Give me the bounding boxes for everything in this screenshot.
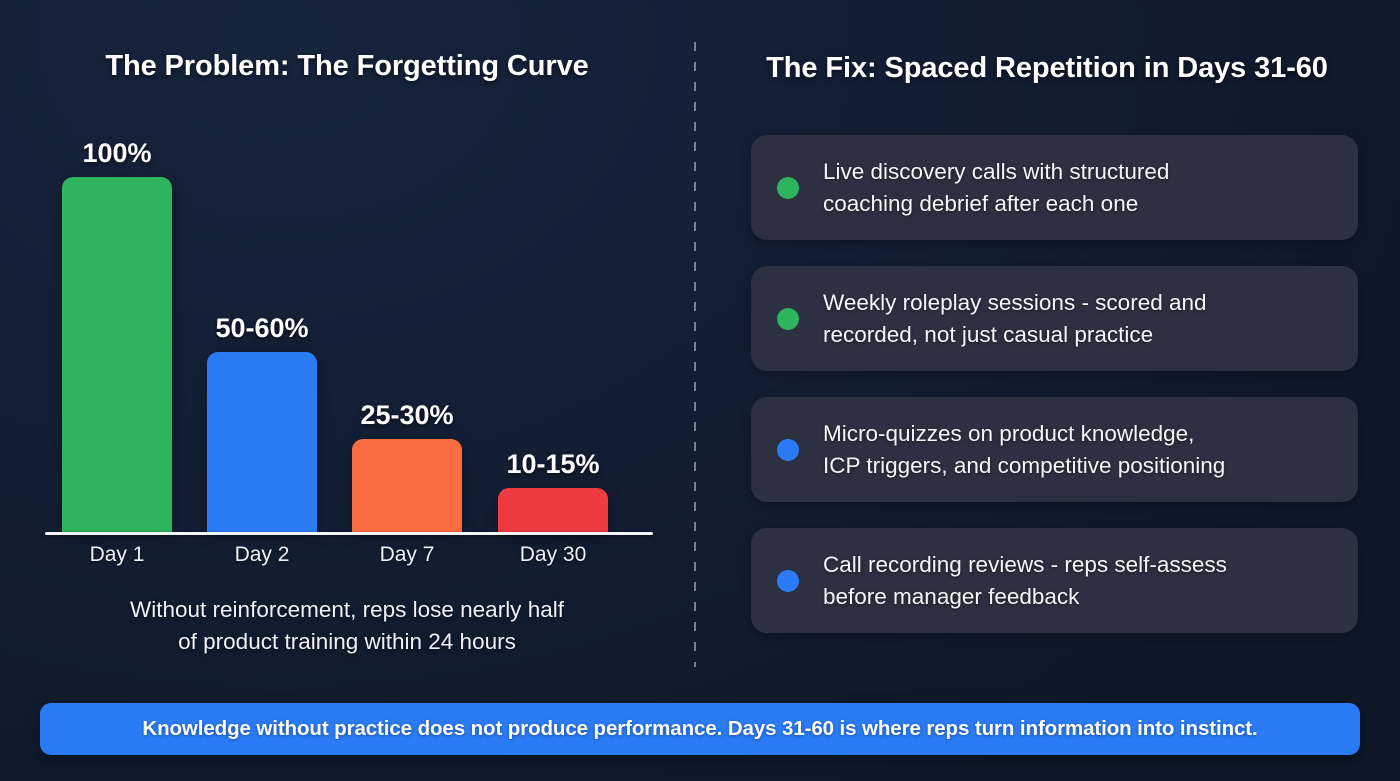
category-label-day-7: Day 7 — [335, 543, 479, 567]
fix-card-list: Live discovery calls with structured coa… — [751, 135, 1358, 659]
bar-group-day-2: 50-60% — [190, 132, 334, 532]
card-text-line-1: Micro-quizzes on product knowledge, — [823, 421, 1194, 446]
card-text: Micro-quizzes on product knowledge, ICP … — [823, 418, 1336, 482]
card-text-line-1: Live discovery calls with structured — [823, 159, 1169, 184]
bar-value-label-day-30: 10-15% — [471, 449, 635, 480]
infographic-slide: The Problem: The Forgetting Curve 100% 5… — [0, 0, 1400, 781]
green-bullet-dot — [777, 177, 799, 199]
card-text: Weekly roleplay sessions - scored and re… — [823, 287, 1336, 351]
bar-value-label-day-2: 50-60% — [180, 313, 344, 344]
chart-caption: Without reinforcement, reps lose nearly … — [47, 594, 647, 658]
bar-value-label-day-1: 100% — [35, 138, 199, 169]
chart-caption-line-2: of product training within 24 hours — [47, 626, 647, 658]
chart-x-axis-line — [45, 532, 653, 535]
left-panel: The Problem: The Forgetting Curve 100% 5… — [0, 0, 694, 680]
bar-group-day-7: 25-30% — [335, 132, 479, 532]
list-item[interactable]: Call recording reviews - reps self-asses… — [751, 528, 1358, 633]
summary-banner: Knowledge without practice does not prod… — [40, 703, 1360, 755]
category-label-day-2: Day 2 — [190, 543, 334, 567]
card-text-line-2: before manager feedback — [823, 584, 1079, 609]
right-panel-title: The Fix: Spaced Repetition in Days 31-60 — [694, 52, 1400, 85]
card-text-line-2: ICP triggers, and competitive positionin… — [823, 453, 1225, 478]
list-item[interactable]: Weekly roleplay sessions - scored and re… — [751, 266, 1358, 371]
card-text-line-1: Call recording reviews - reps self-asses… — [823, 552, 1227, 577]
chart-bars: 100% 50-60% 25-30% 10-15% — [45, 132, 653, 532]
right-panel: The Fix: Spaced Repetition in Days 31-60… — [694, 0, 1400, 680]
summary-banner-text: Knowledge without practice does not prod… — [142, 717, 1257, 741]
card-text-line-2: coaching debrief after each one — [823, 191, 1138, 216]
bar-value-label-day-7: 25-30% — [325, 400, 489, 431]
left-panel-title: The Problem: The Forgetting Curve — [0, 50, 694, 83]
green-bullet-dot — [777, 308, 799, 330]
list-item[interactable]: Live discovery calls with structured coa… — [751, 135, 1358, 240]
list-item[interactable]: Micro-quizzes on product knowledge, ICP … — [751, 397, 1358, 502]
category-label-day-1: Day 1 — [45, 543, 189, 567]
forgetting-curve-bar-chart: 100% 50-60% 25-30% 10-15% — [45, 130, 653, 535]
blue-bullet-dot — [777, 570, 799, 592]
chart-category-labels: Day 1 Day 2 Day 7 Day 30 — [45, 543, 653, 573]
bar-group-day-30: 10-15% — [481, 132, 625, 532]
bar-group-day-1: 100% — [45, 132, 189, 532]
card-text-line-2: recorded, not just casual practice — [823, 322, 1153, 347]
chart-caption-line-1: Without reinforcement, reps lose nearly … — [47, 594, 647, 626]
bar-day-1 — [62, 177, 172, 532]
card-text-line-1: Weekly roleplay sessions - scored and — [823, 290, 1207, 315]
card-text: Live discovery calls with structured coa… — [823, 156, 1336, 220]
bar-day-2 — [207, 352, 317, 532]
card-text: Call recording reviews - reps self-asses… — [823, 549, 1336, 613]
category-label-day-30: Day 30 — [481, 543, 625, 567]
blue-bullet-dot — [777, 439, 799, 461]
bar-day-7 — [352, 439, 462, 532]
bar-day-30 — [498, 488, 608, 532]
